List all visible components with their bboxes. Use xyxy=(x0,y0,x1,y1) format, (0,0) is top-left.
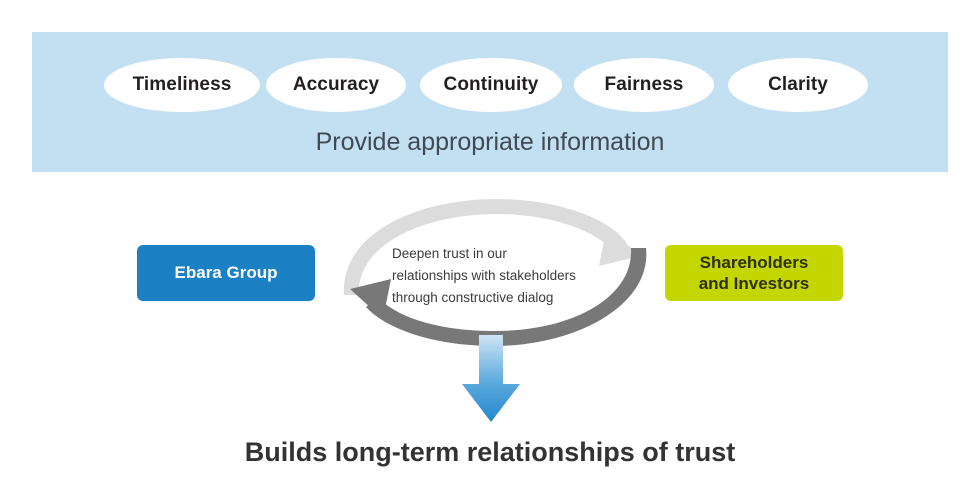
node-ebara-group-label: Ebara Group xyxy=(175,262,278,283)
quality-pill-clarity: Clarity xyxy=(728,58,868,112)
node-ebara-group: Ebara Group xyxy=(137,245,315,301)
banner-caption: Provide appropriate information xyxy=(32,128,948,157)
node-shareholders-investors-label: Shareholders and Investors xyxy=(699,252,810,295)
quality-pill-label: Accuracy xyxy=(293,74,379,96)
node-shareholders-investors: Shareholders and Investors xyxy=(665,245,843,301)
quality-pill-timeliness: Timeliness xyxy=(104,58,260,112)
quality-pill-label: Continuity xyxy=(444,74,539,96)
quality-pill-label: Fairness xyxy=(605,74,684,96)
quality-pill-label: Timeliness xyxy=(133,74,232,96)
quality-pill-label: Clarity xyxy=(768,74,828,96)
quality-pill-fairness: Fairness xyxy=(574,58,714,112)
cycle-caption: Deepen trust in our relationships with s… xyxy=(392,243,618,309)
page-headline: Builds long-term relationships of trust xyxy=(0,437,980,468)
down-arrow-icon xyxy=(458,334,524,424)
quality-pill-accuracy: Accuracy xyxy=(266,58,406,112)
quality-pill-continuity: Continuity xyxy=(420,58,562,112)
diagram-canvas: Timeliness Accuracy Continuity Fairness … xyxy=(0,0,980,494)
quality-pill-row: Timeliness Accuracy Continuity Fairness … xyxy=(32,58,948,112)
